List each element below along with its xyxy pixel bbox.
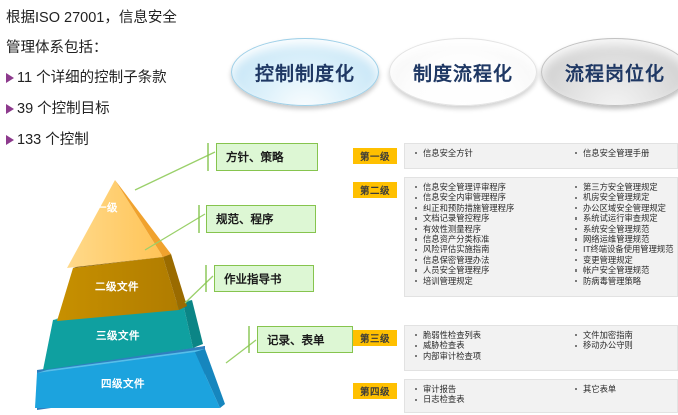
list-item: 文档记录管控程序 xyxy=(413,213,514,223)
list-item: 内部审计检查项 xyxy=(413,351,481,361)
list-item: 培训管理规定 xyxy=(413,276,514,286)
callout-box-3: 作业指导书 xyxy=(214,265,314,292)
level-3-box: 脆弱性检查列表 威胁检查表 内部审计检查项 文件加密指南 移动办公守则 xyxy=(404,325,678,371)
list-item: 其它表单 xyxy=(573,384,616,394)
list-item: IT终端设备使用管理规范 xyxy=(573,244,674,254)
level-1-box: 信息安全方针 信息安全管理手册 xyxy=(404,143,678,169)
intro-bullet-3: 133 个控制 xyxy=(6,130,231,150)
list-item: 审计报告 xyxy=(413,384,465,394)
level-1-right-column: 信息安全管理手册 xyxy=(573,148,649,158)
document-level-panel: 信息安全方针 信息安全管理手册 第一级 信息安全管理评审程序 信息安全内审管理程… xyxy=(352,140,678,414)
list-item: 信息安全管理手册 xyxy=(573,148,649,158)
level-2-badge: 第二级 xyxy=(353,182,397,198)
list-item: 第三方安全管理规定 xyxy=(573,182,674,192)
level-1-left-column: 信息安全方针 xyxy=(413,148,473,158)
list-item: 系统安全管理规范 xyxy=(573,224,674,234)
callout-label-4: 记录、表单 xyxy=(267,332,325,348)
callout-box-4: 记录、表单 xyxy=(257,326,353,353)
list-item: 防病毒管理策略 xyxy=(573,276,674,286)
ellipse-shape-3: 流程岗位化 xyxy=(541,38,678,106)
triangle-bullet-icon xyxy=(6,135,14,145)
list-item: 变更管理规定 xyxy=(573,255,674,265)
level-4-left-column: 审计报告 日志检查表 xyxy=(413,384,465,405)
ellipse-label-1: 控制制度化 xyxy=(255,59,355,86)
list-item: 信息安全管理评审程序 xyxy=(413,182,514,192)
list-item: 系统试运行审查规定 xyxy=(573,213,674,223)
list-item: 日志检查表 xyxy=(413,394,465,404)
pyramid-level-4-label: 四级文件 xyxy=(73,376,173,391)
callout-box-1: 方针、策略 xyxy=(216,143,318,171)
intro-bullet-1-label: 11 个详细的控制子条款 xyxy=(17,68,167,88)
list-item: 脆弱性检查列表 xyxy=(413,330,481,340)
level-3-badge: 第三级 xyxy=(353,330,397,346)
ellipse-shape-2: 制度流程化 xyxy=(389,38,537,106)
list-item: 帐户安全管理规范 xyxy=(573,265,674,275)
intro-bullet-3-label: 133 个控制 xyxy=(17,130,89,150)
list-item: 信息保密管理办法 xyxy=(413,255,514,265)
triangle-bullet-icon xyxy=(6,104,14,114)
list-item: 文件加密指南 xyxy=(573,330,633,340)
callout-label-1: 方针、策略 xyxy=(226,149,284,165)
list-item: 机房安全管理规定 xyxy=(573,192,674,202)
pyramid-level-1-label: 一级 xyxy=(77,200,137,215)
level-4-right-column: 其它表单 xyxy=(573,384,616,394)
list-item: 信息安全内审管理程序 xyxy=(413,192,514,202)
list-item: 信息安全方针 xyxy=(413,148,473,158)
ellipse-label-2: 制度流程化 xyxy=(413,59,513,86)
intro-bullet-2-label: 39 个控制目标 xyxy=(17,99,110,119)
level-3-left-column: 脆弱性检查列表 威胁检查表 内部审计检查项 xyxy=(413,330,481,361)
pyramid-level-2-label: 二级文件 xyxy=(77,279,157,294)
list-item: 人员安全管理程序 xyxy=(413,265,514,275)
pyramid-level-3-label: 三级文件 xyxy=(73,328,163,343)
list-item: 风险评估实施指南 xyxy=(413,244,514,254)
intro-line-2: 管理体系包括： xyxy=(6,38,231,58)
list-item: 移动办公守则 xyxy=(573,340,633,350)
callout-label-3: 作业指导书 xyxy=(224,271,282,287)
intro-bullet-2: 39 个控制目标 xyxy=(6,99,231,119)
slide-canvas: 根据ISO 27001，信息安全 管理体系包括： 11 个详细的控制子条款 39… xyxy=(0,0,678,414)
level-4-box: 审计报告 日志检查表 其它表单 xyxy=(404,379,678,413)
level-2-box: 信息安全管理评审程序 信息安全内审管理程序 纠正和预防措施管理程序 文档记录管控… xyxy=(404,177,678,297)
level-2-left-column: 信息安全管理评审程序 信息安全内审管理程序 纠正和预防措施管理程序 文档记录管控… xyxy=(413,182,514,286)
intro-bullet-1: 11 个详细的控制子条款 xyxy=(6,68,231,88)
intro-text-block: 根据ISO 27001，信息安全 管理体系包括： 11 个详细的控制子条款 39… xyxy=(6,8,231,161)
level-4-badge: 第四级 xyxy=(353,383,397,399)
list-item: 有效性测量程序 xyxy=(413,224,514,234)
list-item: 纠正和预防措施管理程序 xyxy=(413,203,514,213)
list-item: 网络运维管理规范 xyxy=(573,234,674,244)
triangle-bullet-icon xyxy=(6,73,14,83)
list-item: 威胁检查表 xyxy=(413,340,481,350)
callout-label-2: 规范、程序 xyxy=(216,211,274,227)
callout-box-2: 规范、程序 xyxy=(206,205,316,233)
level-1-badge: 第一级 xyxy=(353,148,397,164)
ellipse-shape-1: 控制制度化 xyxy=(231,38,379,106)
level-3-right-column: 文件加密指南 移动办公守则 xyxy=(573,330,633,351)
ellipse-label-3: 流程岗位化 xyxy=(565,59,665,86)
list-item: 办公区域安全管理规定 xyxy=(573,203,674,213)
list-item: 信息资产分类标准 xyxy=(413,234,514,244)
intro-line-1: 根据ISO 27001，信息安全 xyxy=(6,8,231,28)
level-2-right-column: 第三方安全管理规定 机房安全管理规定 办公区域安全管理规定 系统试运行审查规定 … xyxy=(573,182,674,286)
